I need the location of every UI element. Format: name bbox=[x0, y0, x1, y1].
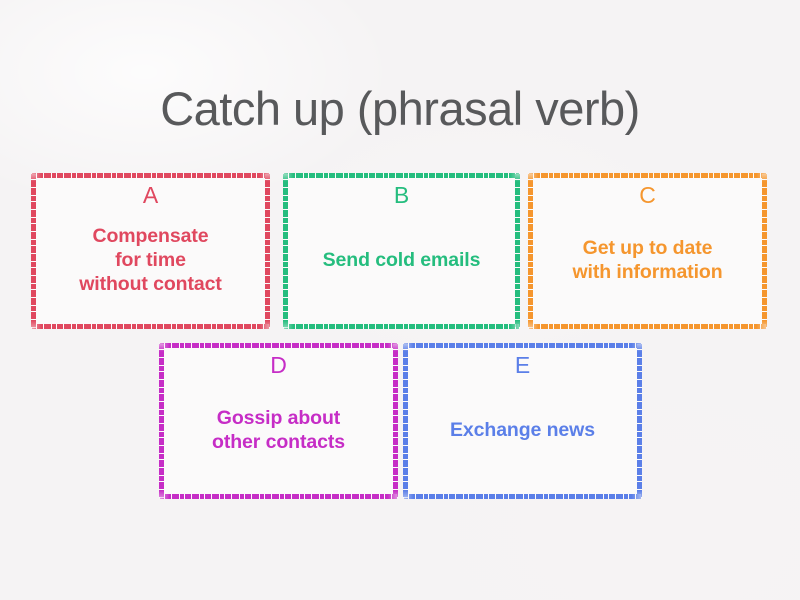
answer-letter-b: B bbox=[394, 181, 409, 209]
card-border-left bbox=[403, 344, 408, 498]
card-border-top bbox=[32, 173, 269, 178]
card-border-right bbox=[515, 174, 520, 328]
card-border-top bbox=[160, 343, 397, 348]
card-border-top bbox=[529, 173, 766, 178]
answer-letter-a: A bbox=[143, 181, 158, 209]
card-border-left bbox=[31, 174, 36, 328]
card-border-right bbox=[393, 344, 398, 498]
answer-letter-c: C bbox=[639, 181, 656, 209]
answer-letter-e: E bbox=[515, 351, 530, 379]
answer-card-a[interactable]: A Compensate for time without contact bbox=[33, 175, 268, 327]
card-border-left bbox=[159, 344, 164, 498]
page-title: Catch up (phrasal verb) bbox=[0, 80, 800, 138]
answer-text-b: Send cold emails bbox=[313, 209, 491, 327]
answer-letter-d: D bbox=[270, 351, 287, 379]
card-border-left bbox=[283, 174, 288, 328]
answer-text-d: Gossip about other contacts bbox=[202, 379, 355, 497]
answer-text-a: Compensate for time without contact bbox=[69, 209, 232, 327]
answer-card-b[interactable]: B Send cold emails bbox=[285, 175, 518, 327]
answer-card-d[interactable]: D Gossip about other contacts bbox=[161, 345, 396, 497]
answer-card-c[interactable]: C Get up to date with information bbox=[530, 175, 765, 327]
quiz-stage: Catch up (phrasal verb) A Compensate for… bbox=[0, 0, 800, 600]
answer-text-c: Get up to date with information bbox=[562, 209, 732, 327]
card-border-top bbox=[284, 173, 519, 178]
card-border-left bbox=[528, 174, 533, 328]
card-border-right bbox=[637, 344, 642, 498]
card-border-right bbox=[762, 174, 767, 328]
card-border-top bbox=[404, 343, 641, 348]
answer-card-e[interactable]: E Exchange news bbox=[405, 345, 640, 497]
card-border-right bbox=[265, 174, 270, 328]
answer-text-e: Exchange news bbox=[440, 379, 605, 497]
